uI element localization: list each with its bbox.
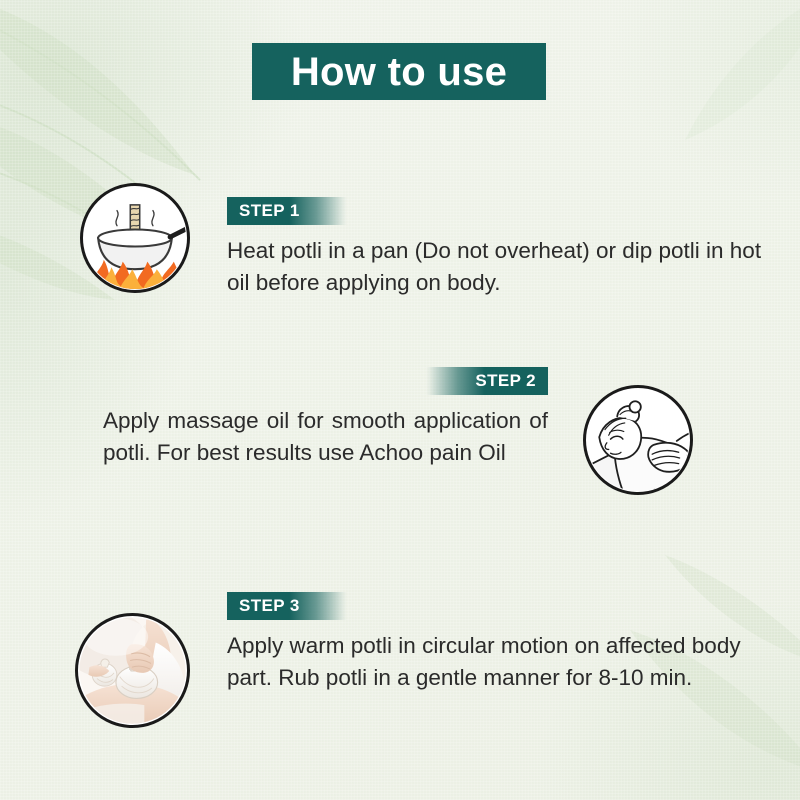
back-massage-icon xyxy=(583,385,693,495)
step-3-text: Apply warm potli in circular motion on a… xyxy=(227,630,742,694)
how-to-use-poster: How to use xyxy=(0,0,800,800)
step-2-block: STEP 2 Apply massage oil for smooth appl… xyxy=(103,367,548,469)
step-3-badge-label: STEP 3 xyxy=(239,596,300,616)
step-1-badge-label: STEP 1 xyxy=(239,201,300,221)
potli-massage-on-back-icon xyxy=(75,613,190,728)
page-title-banner: How to use xyxy=(252,43,546,100)
step-2-text: Apply massage oil for smooth application… xyxy=(103,405,548,469)
step-1-badge: STEP 1 xyxy=(227,197,347,225)
step-1-text: Heat potli in a pan (Do not overheat) or… xyxy=(227,235,783,299)
step-1-block: STEP 1 Heat potli in a pan (Do not overh… xyxy=(227,197,787,299)
step-2-badge: STEP 2 xyxy=(426,367,548,395)
step-3-badge: STEP 3 xyxy=(227,592,347,620)
page-title: How to use xyxy=(291,52,507,92)
step-3-block: STEP 3 Apply warm potli in circular moti… xyxy=(227,592,747,694)
step-2-badge-label: STEP 2 xyxy=(475,371,536,391)
potli-heating-in-pan-icon xyxy=(80,183,190,293)
